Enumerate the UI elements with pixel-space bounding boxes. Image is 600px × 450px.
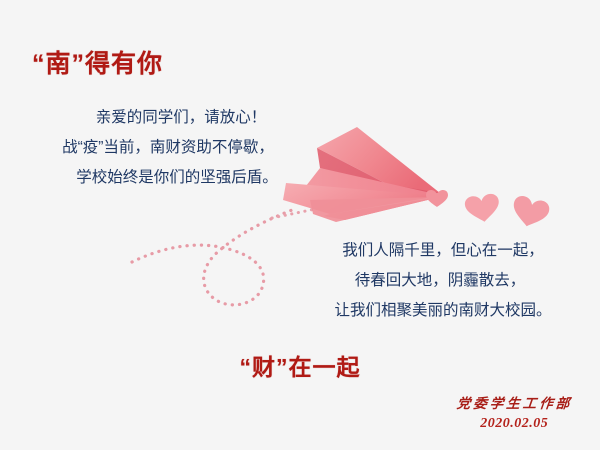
message-lower-line-2: 待春回大地，阴霾散去， <box>290 266 590 296</box>
message-lower-line-1: 我们人隔千里，但心在一起， <box>290 236 590 266</box>
dotted-trail-path <box>132 210 292 305</box>
message-upper-line-3: 学校始终是你们的坚强后盾。 <box>18 163 318 193</box>
message-upper: 亲爱的同学们，请放心！ 战“疫”当前，南财资助不停歇， 学校始终是你们的坚强后盾… <box>18 103 318 193</box>
dotted-spray <box>272 206 330 218</box>
signature-block: 党委学生工作部 2020.02.05 <box>457 392 573 432</box>
message-lower: 我们人隔千里，但心在一起， 待春回大地，阴霾散去， 让我们相聚美丽的南财大校园。 <box>290 236 590 326</box>
page-subtitle: “财”在一起 <box>0 348 600 382</box>
page-title: “南”得有你 <box>32 44 163 80</box>
signature-date: 2020.02.05 <box>457 416 573 432</box>
message-lower-line-3: 让我们相聚美丽的南财大校园。 <box>290 296 590 326</box>
message-upper-line-1: 亲爱的同学们，请放心！ <box>18 103 318 133</box>
message-upper-line-2: 战“疫”当前，南财资助不停歇， <box>18 133 318 163</box>
signature-organization: 党委学生工作部 <box>455 392 573 412</box>
poster-canvas: “南”得有你 亲爱的同学们，请放心！ 战“疫”当前，南财资助不停歇， 学校始终是… <box>0 0 600 450</box>
heart-icon <box>509 194 551 230</box>
nose-heart-icon <box>426 190 448 207</box>
heart-icon <box>464 193 501 224</box>
